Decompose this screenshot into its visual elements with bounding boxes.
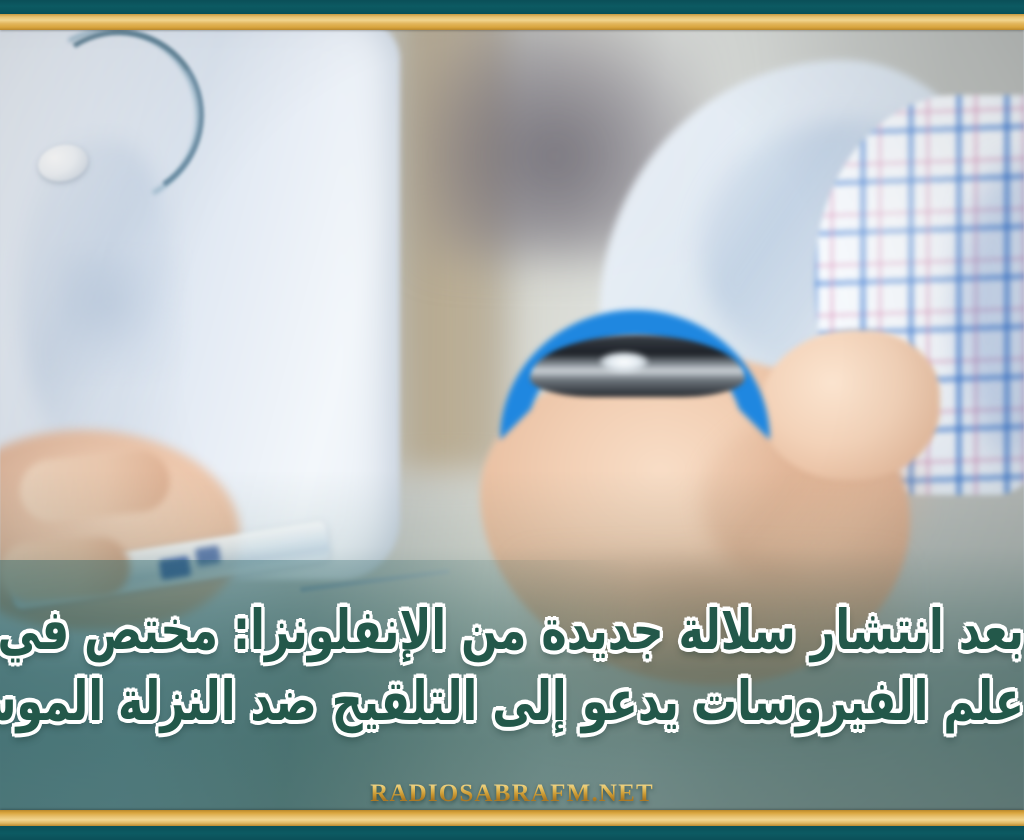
coat-pocket-shade [60, 255, 180, 375]
background-photo [0, 0, 1024, 840]
hand-shadow [520, 560, 900, 740]
site-url: RADIOSABRAFM.NET [0, 780, 1024, 808]
patient-thumb [760, 330, 940, 480]
syringe-marking [195, 545, 222, 567]
news-banner: بعد انتشار سلالة جديدة من الإنفلونزا: مخ… [0, 0, 1024, 840]
doctor-finger [0, 536, 132, 605]
wristwatch-glint [600, 352, 648, 372]
